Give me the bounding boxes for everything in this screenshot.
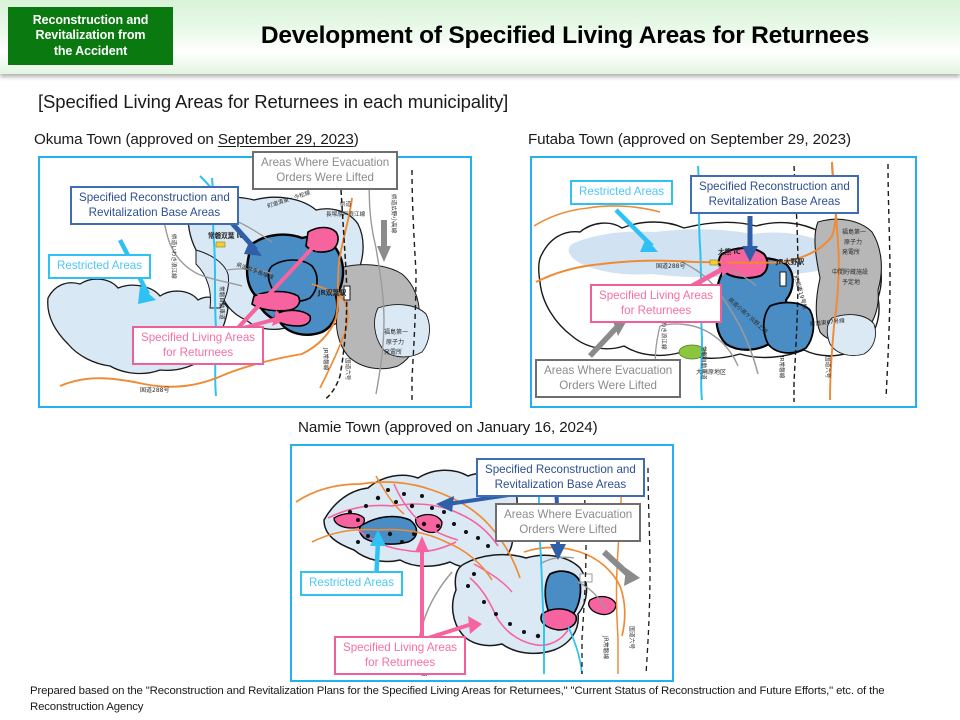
- callout-lifted-futaba-line2: Orders Were Lifted: [544, 379, 672, 394]
- callout-lifted-namie-line2: Orders Were Lifted: [504, 523, 632, 538]
- panel-title-namie: Namie Town (approved on January 16, 2024…: [298, 419, 598, 436]
- callout-restricted-okuma-label: Restricted Areas: [57, 259, 142, 274]
- callout-restricted-okuma[interactable]: Restricted Areas: [48, 254, 151, 279]
- footer-source-note: Prepared based on the "Reconstruction an…: [30, 684, 935, 715]
- callout-lifted-namie-line1: Areas Where Evacuation: [504, 508, 632, 523]
- callout-lifted-futaba[interactable]: Areas Where Evacuation Orders Were Lifte…: [535, 359, 681, 398]
- panel-title-namie-date: January 16, 2024: [477, 419, 593, 436]
- arrow-living-areas-futaba: [692, 258, 734, 286]
- header-logo-line2: Revitalization from: [33, 28, 149, 44]
- panel-title-futaba: Futaba Town (approved on September 29, 2…: [528, 131, 851, 148]
- header-logo-line3: the Accident: [33, 44, 149, 60]
- callout-living-areas-okuma-line2: for Returnees: [141, 346, 255, 361]
- callout-base-areas-namie[interactable]: Specified Reconstruction and Revitalizat…: [476, 458, 645, 497]
- callout-living-areas-namie-line1: Specified Living Areas: [343, 641, 457, 656]
- callout-base-areas-okuma-line2: Revitalization Base Areas: [79, 206, 230, 221]
- map-namie[interactable]: 国道六号 JR常磐線 常磐自動車道 Specified Reconstructi…: [290, 444, 674, 682]
- arrow-base-areas-futaba: [742, 216, 758, 262]
- callout-lifted-okuma-line1: Areas Where Evacuation: [261, 156, 389, 171]
- callout-restricted-futaba[interactable]: Restricted Areas: [570, 180, 673, 205]
- header-logo-badge: Reconstruction and Revitalization from t…: [8, 7, 173, 65]
- callout-living-areas-namie-line2: for Returnees: [343, 656, 457, 671]
- panel-title-okuma-date: September 29, 2023: [218, 131, 354, 148]
- header-band: Reconstruction and Revitalization from t…: [0, 0, 960, 74]
- callout-living-areas-futaba-line1: Specified Living Areas: [599, 289, 713, 304]
- callout-living-areas-futaba[interactable]: Specified Living Areas for Returnees: [590, 284, 722, 323]
- panel-title-okuma-prefix: Okuma Town (approved on: [34, 131, 218, 148]
- panel-title-okuma-suffix: ): [354, 131, 359, 148]
- callout-base-areas-namie-line1: Specified Reconstruction and: [485, 463, 636, 478]
- arrow-lifted-futaba: [590, 318, 626, 356]
- callout-lifted-namie[interactable]: Areas Where Evacuation Orders Were Lifte…: [495, 503, 641, 542]
- header-logo-line1: Reconstruction and: [33, 13, 149, 29]
- callout-lifted-okuma[interactable]: Areas Where Evacuation Orders Were Lifte…: [252, 151, 398, 190]
- panel-title-futaba-prefix: Futaba Town (approved on: [528, 131, 710, 148]
- callout-base-areas-futaba-line1: Specified Reconstruction and: [699, 180, 850, 195]
- panel-title-futaba-date: September 29, 2023: [710, 131, 846, 148]
- callout-base-areas-okuma-line1: Specified Reconstruction and: [79, 191, 230, 206]
- callout-restricted-futaba-label: Restricted Areas: [579, 185, 664, 200]
- arrows-living-areas-namie: [415, 536, 482, 640]
- panel-title-futaba-suffix: ): [846, 131, 851, 148]
- callout-lifted-okuma-line2: Orders Were Lifted: [261, 171, 389, 186]
- arrow-restricted-futaba: [616, 210, 658, 252]
- callout-base-areas-futaba-line2: Revitalization Base Areas: [699, 195, 850, 210]
- section-heading: [Specified Living Areas for Returnees in…: [38, 91, 508, 113]
- callout-living-areas-namie[interactable]: Specified Living Areas for Returnees: [334, 636, 466, 675]
- callout-base-areas-okuma[interactable]: Specified Reconstruction and Revitalizat…: [70, 186, 239, 225]
- callout-living-areas-okuma-line1: Specified Living Areas: [141, 331, 255, 346]
- panel-title-namie-suffix: ): [593, 419, 598, 436]
- callout-lifted-futaba-line1: Areas Where Evacuation: [544, 364, 672, 379]
- callout-base-areas-namie-line2: Revitalization Base Areas: [485, 478, 636, 493]
- callout-living-areas-okuma[interactable]: Specified Living Areas for Returnees: [132, 326, 264, 365]
- page-title: Development of Specified Living Areas fo…: [180, 22, 950, 50]
- callout-base-areas-futaba[interactable]: Specified Reconstruction and Revitalizat…: [690, 175, 859, 214]
- callout-living-areas-futaba-line2: for Returnees: [599, 304, 713, 319]
- map-okuma[interactable]: 常磐双葉 IC JR双葉駅 国道288号 福島第一 原子力 発電所 県道いわき浪…: [38, 156, 472, 408]
- panel-title-namie-prefix: Namie Town (approved on: [298, 419, 477, 436]
- callout-restricted-namie[interactable]: Restricted Areas: [300, 571, 403, 596]
- panel-title-okuma: Okuma Town (approved on September 29, 20…: [34, 131, 359, 148]
- callout-restricted-namie-label: Restricted Areas: [309, 576, 394, 591]
